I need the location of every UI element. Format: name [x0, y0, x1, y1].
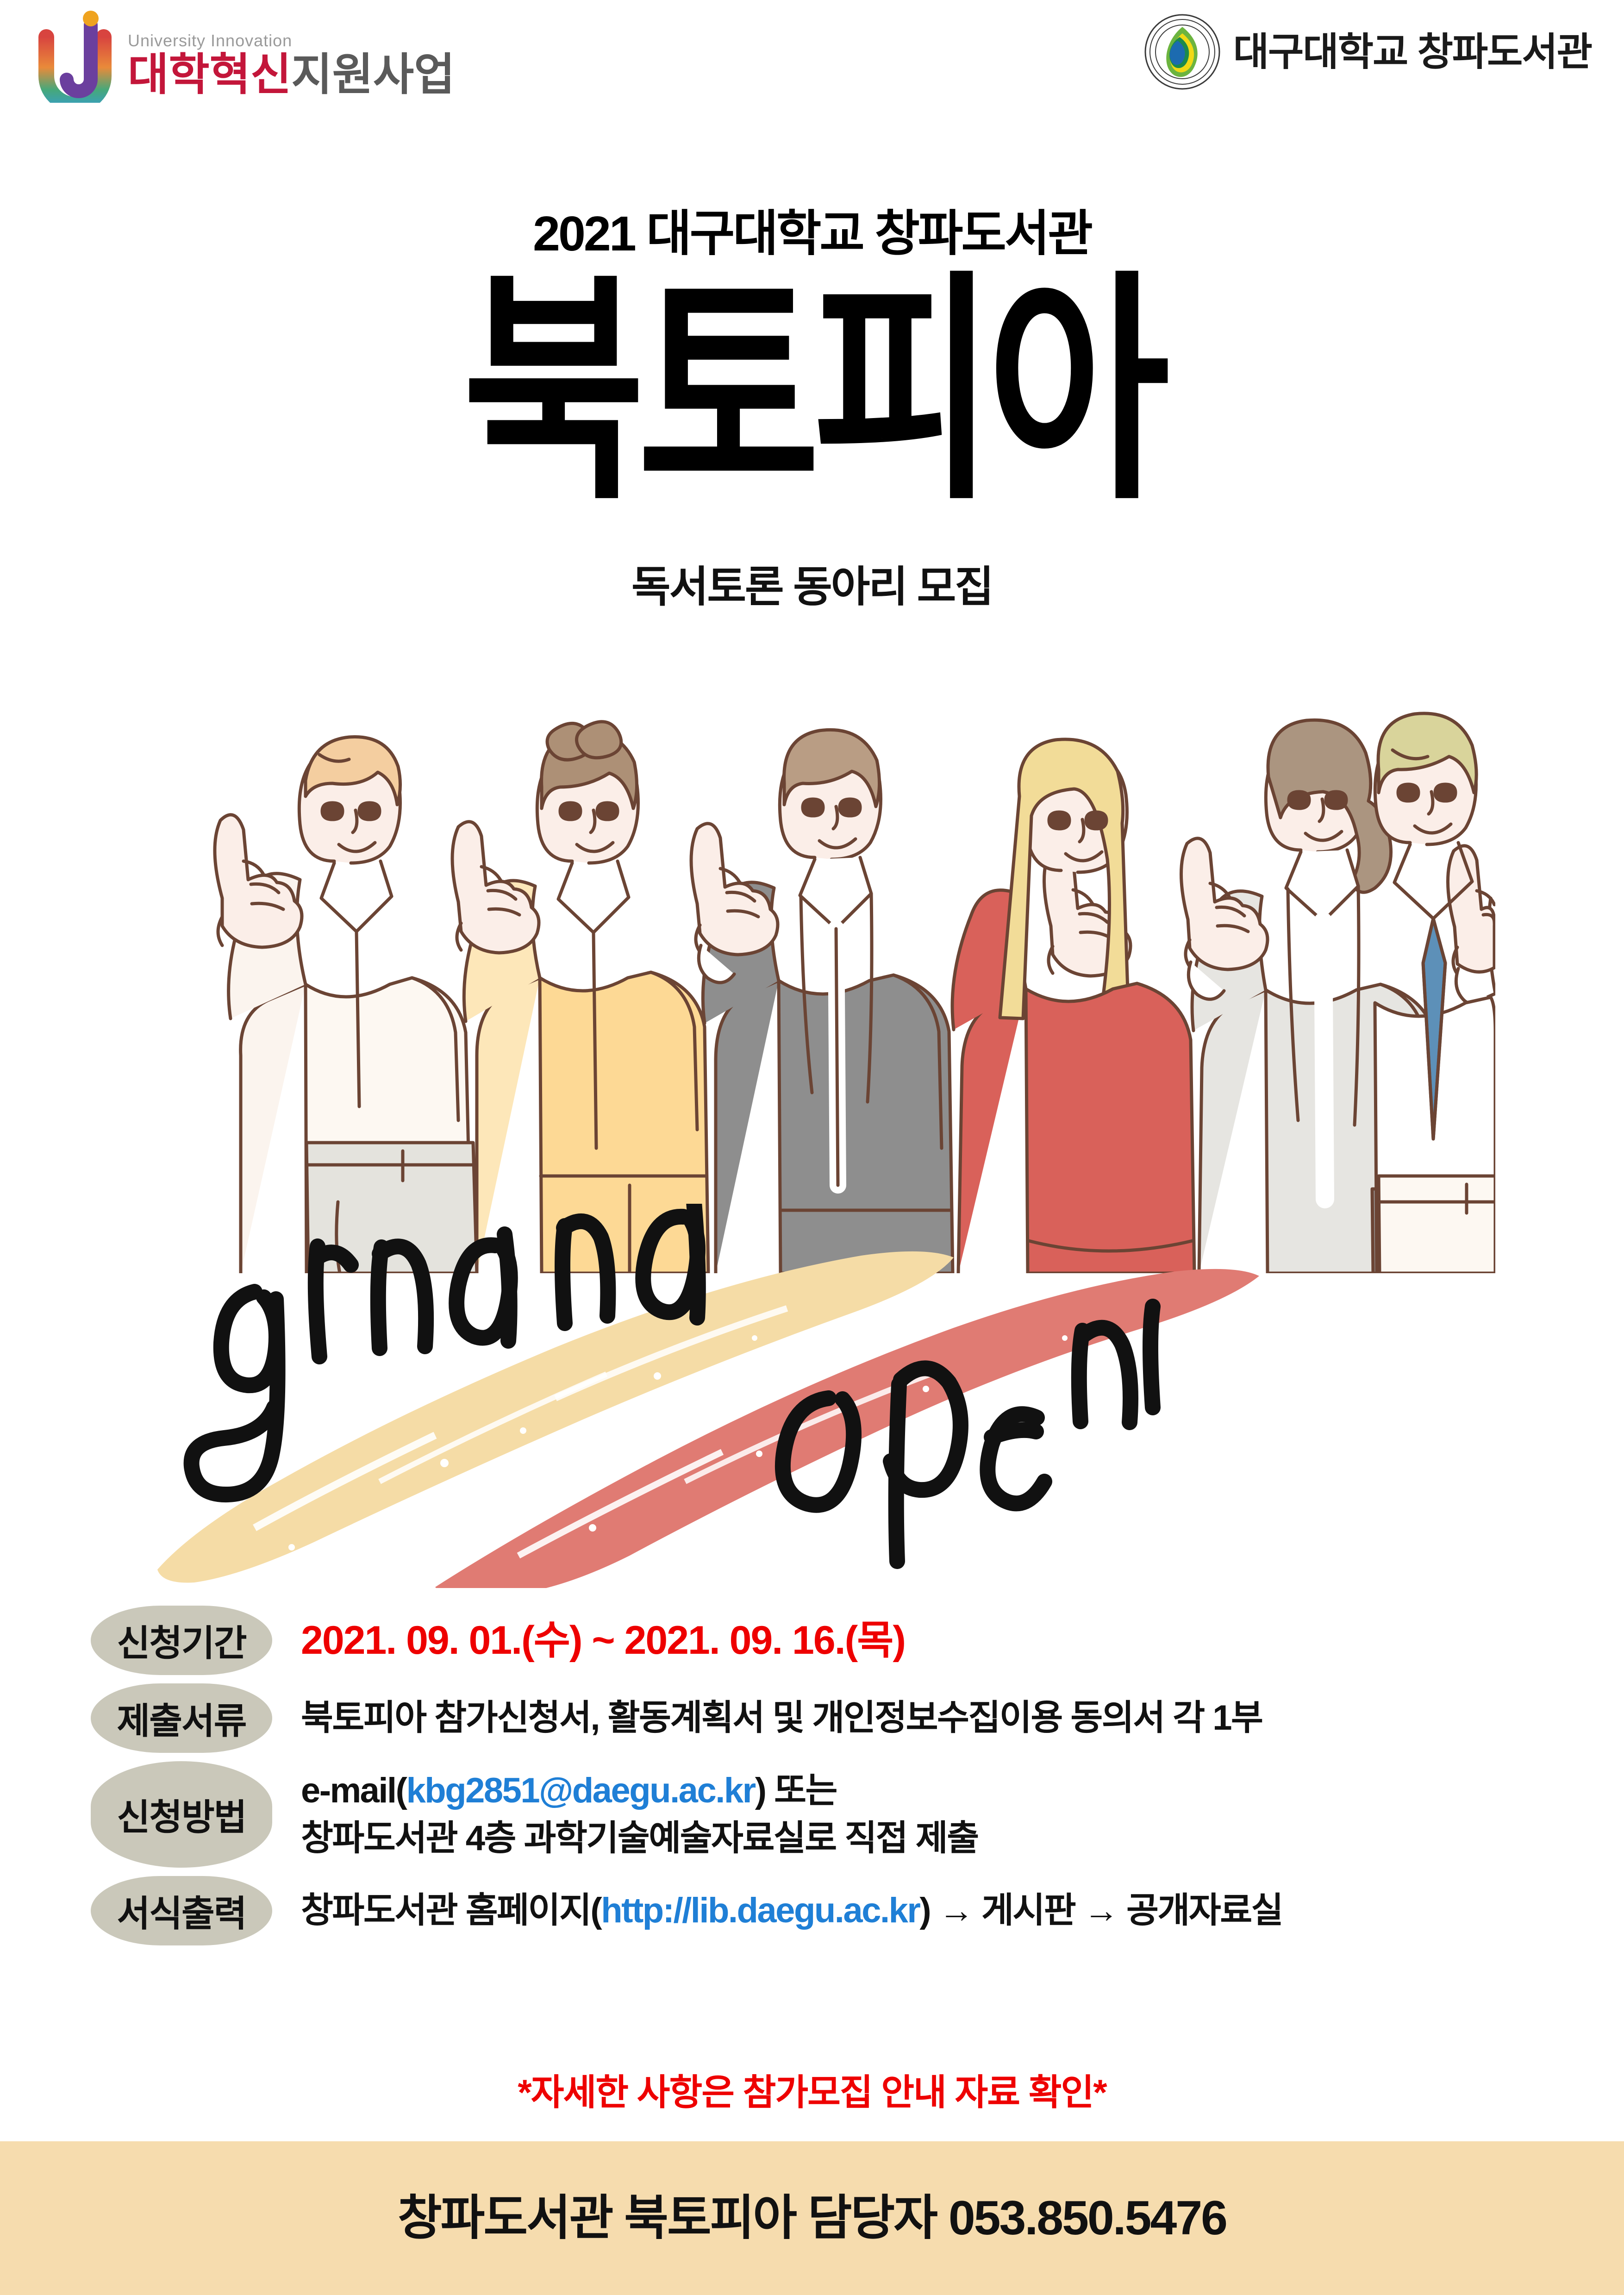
- application-method-line1: e-mail(kbg2851@daegu.ac.kr) 또는: [301, 1767, 978, 1814]
- page-title: 북토피아: [0, 273, 1624, 511]
- daegu-library-logo: 대구대학교 창파도서관: [1143, 13, 1592, 91]
- poster-canvas: University Innovation 대학혁신지원사업 대구대학교 창파도…: [0, 0, 1624, 2295]
- six-people-thumbs-up-illustration: [153, 602, 1495, 1273]
- homepage-suffix: ) → 게시판 → 공개자료실: [919, 1891, 1282, 1930]
- value-application-method: e-mail(kbg2851@daegu.ac.kr) 또는 창파도서관 4층 …: [272, 1761, 978, 1868]
- homepage-prefix: 창파도서관 홈페이지(: [301, 1891, 601, 1930]
- label-form-download: 서식출력: [91, 1876, 272, 1945]
- uiss-u-mark-icon: [36, 10, 119, 103]
- email-prefix: e-mail(: [301, 1771, 406, 1810]
- application-method-line2: 창파도서관 4층 과학기술예술자료실로 직접 제출: [301, 1814, 978, 1862]
- uiss-logo-text: University Innovation 대학혁신지원사업: [128, 32, 455, 103]
- required-documents-text: 북토피아 참가신청서, 활동계획서 및 개인정보수집이용 동의서 각 1부: [301, 1694, 1262, 1742]
- application-period-text: 2021. 09. 01.(수) ~ 2021. 09. 16.(목): [301, 1613, 905, 1668]
- value-required-documents: 북토피아 참가신청서, 활동계획서 및 개인정보수집이용 동의서 각 1부: [272, 1683, 1262, 1753]
- footer-contact-bar: 창파도서관 북토피아 담당자 053.850.5476: [0, 2141, 1624, 2295]
- value-application-period: 2021. 09. 01.(수) ~ 2021. 09. 16.(목): [272, 1606, 905, 1675]
- email-suffix: ) 또는: [755, 1771, 837, 1810]
- daegu-university-seal-icon: [1143, 13, 1221, 91]
- form-download-line1: 창파도서관 홈페이지(http://lib.daegu.ac.kr) → 게시판…: [301, 1887, 1282, 1934]
- uiss-logo-korean-highlight: 대학혁신: [128, 50, 291, 100]
- uiss-logo-korean-rest: 지원사업: [291, 50, 455, 100]
- grand-open-brush-artwork: [139, 1204, 1505, 1588]
- info-row-application-method: 신청방법 e-mail(kbg2851@daegu.ac.kr) 또는 창파도서…: [91, 1761, 1563, 1868]
- university-innovation-logo: University Innovation 대학혁신지원사업: [36, 10, 455, 103]
- info-row-application-period: 신청기간 2021. 09. 01.(수) ~ 2021. 09. 16.(목): [91, 1606, 1563, 1675]
- value-form-download: 창파도서관 홈페이지(http://lib.daegu.ac.kr) → 게시판…: [272, 1876, 1282, 1945]
- homepage-link[interactable]: http://lib.daegu.ac.kr: [601, 1891, 919, 1930]
- label-application-period: 신청기간: [91, 1606, 272, 1675]
- footer-contact-text: 창파도서관 북토피아 담당자 053.850.5476: [398, 2194, 1226, 2242]
- label-application-method: 신청방법: [91, 1761, 272, 1868]
- info-table: 신청기간 2021. 09. 01.(수) ~ 2021. 09. 16.(목)…: [91, 1606, 1563, 1954]
- detail-note: *자세한 사항은 참가모집 안내 자료 확인*: [0, 2074, 1624, 2110]
- daegu-library-name: 대구대학교 창파도서관: [1233, 32, 1592, 71]
- info-row-required-documents: 제출서류 북토피아 참가신청서, 활동계획서 및 개인정보수집이용 동의서 각 …: [91, 1683, 1563, 1753]
- poster-eyebrow: 2021 대구대학교 창파도서관: [0, 209, 1624, 258]
- uiss-logo-korean: 대학혁신지원사업: [128, 53, 455, 97]
- label-required-documents: 제출서류: [91, 1683, 272, 1753]
- info-row-form-download: 서식출력 창파도서관 홈페이지(http://lib.daegu.ac.kr) …: [91, 1876, 1563, 1945]
- email-link[interactable]: kbg2851@daegu.ac.kr: [406, 1771, 755, 1810]
- uiss-logo-english: University Innovation: [128, 32, 455, 49]
